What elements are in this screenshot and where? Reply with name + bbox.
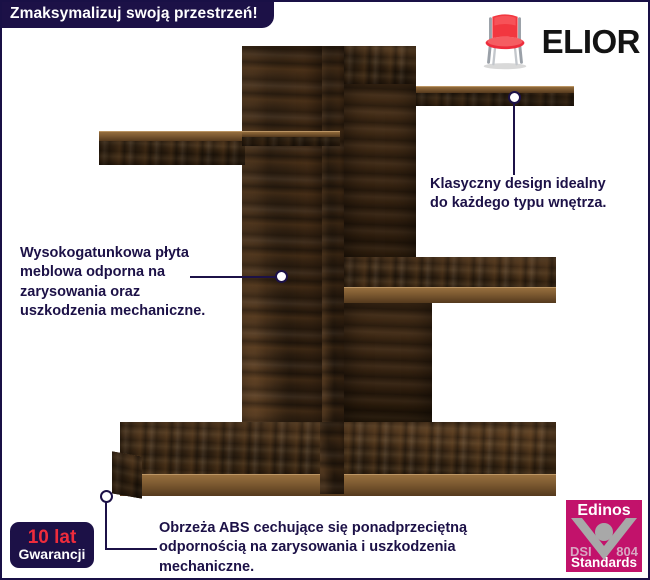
callout-board-leader (190, 276, 276, 278)
shelf-board-middle-right-edge (344, 287, 556, 303)
callout-design-leader (513, 103, 515, 175)
red-chair-icon (474, 10, 536, 72)
edinos-standards-label: Standards (566, 555, 642, 570)
poster-canvas: Zmaksymalizuj swoją przestrzeń! ELIOR Kl… (0, 0, 650, 580)
shelf-back-panel-lower (344, 303, 432, 427)
warranty-badge: 10 lat Gwarancji (10, 522, 94, 568)
callout-abs-dot[interactable] (100, 490, 113, 503)
warranty-years: 10 lat (28, 528, 77, 547)
callout-design-dot[interactable] (508, 91, 521, 104)
callout-board-dot[interactable] (275, 270, 288, 283)
brand-logo[interactable]: ELIOR (474, 8, 640, 74)
callout-abs-leader-vertical (105, 502, 107, 549)
callout-abs-text: Obrzeża ABS cechujące się ponadprzeciętn… (159, 519, 559, 577)
shelf-center-panel-foot (320, 422, 344, 494)
shelf-board-left-edge (99, 131, 245, 141)
callout-board-text: Wysokogatunkowa płyta meblowa odporna na… (20, 244, 244, 322)
brand-name: ELIOR (542, 25, 640, 58)
callout-design-text: Klasyczny design idealny do każdego typu… (430, 175, 646, 214)
callout-abs-leader-horizontal (105, 548, 157, 550)
warranty-word: Gwarancji (19, 547, 86, 562)
shelf-board-left-inner-edge (242, 131, 340, 137)
shelf-board-top-right-edge (416, 86, 574, 93)
edinos-standards-badge: Edinos DSI 804 Standards (566, 500, 642, 572)
shelf-top-right-block (344, 46, 416, 84)
banner-headline: Zmaksymalizuj swoją przestrzeń! (0, 0, 274, 28)
shelf-base-bevel-left (112, 451, 142, 498)
